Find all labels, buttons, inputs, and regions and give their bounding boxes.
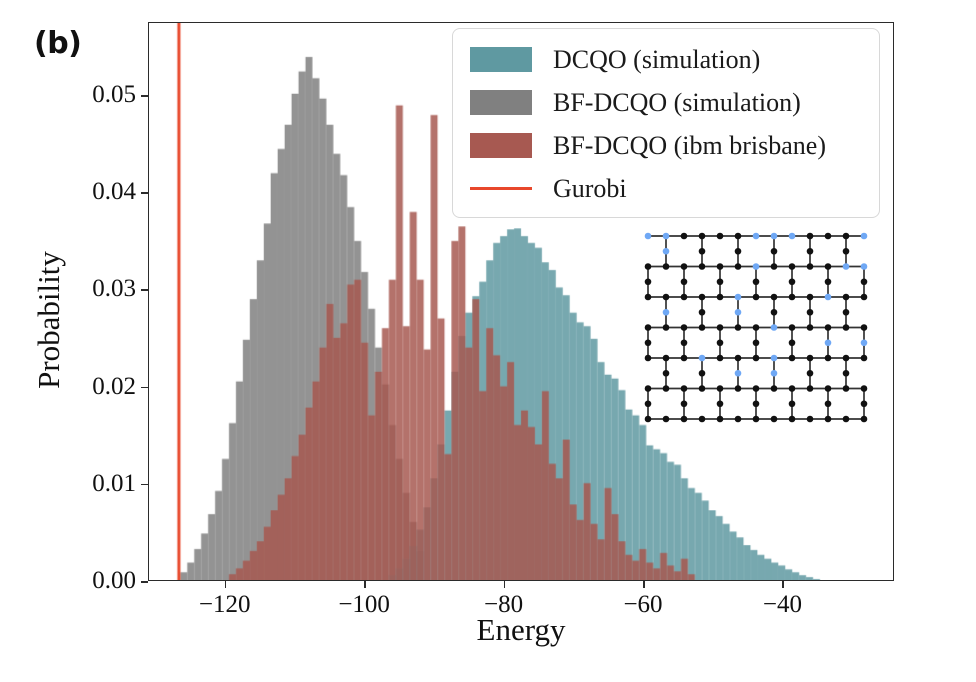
lattice-node — [663, 294, 670, 301]
legend-label-bfdcqo-simulation: BF-DCQO (simulation) — [553, 88, 801, 118]
x-tick-label: −60 — [583, 591, 703, 619]
lattice-node — [717, 324, 724, 331]
legend-item-bfdcqo-ibm-brisbane: BF-DCQO (ibm brisbane) — [453, 124, 879, 167]
lattice-node — [717, 339, 724, 346]
lattice-node-highlight — [771, 370, 778, 377]
y-tick-mark — [141, 581, 148, 583]
x-tick-mark — [643, 581, 645, 588]
lattice-node — [843, 233, 850, 240]
y-tick-mark — [141, 192, 148, 194]
lattice-node — [789, 294, 796, 301]
lattice-node — [645, 294, 652, 301]
lattice-node — [735, 263, 742, 270]
lattice-node — [699, 294, 706, 301]
lattice-node — [807, 355, 814, 362]
legend-swatch-bfdcqo-ibm-brisbane — [470, 133, 532, 158]
lattice-node — [663, 416, 670, 423]
lattice-node — [825, 385, 832, 392]
lattice-node — [807, 248, 814, 255]
lattice-node — [717, 263, 724, 270]
y-tick-mark — [141, 387, 148, 389]
lattice-node-highlight — [735, 370, 742, 377]
lattice-node — [771, 416, 778, 423]
legend-line-wrap-gurobi — [470, 176, 532, 201]
lattice-node — [843, 309, 850, 316]
legend-item-dcqo-simulation: DCQO (simulation) — [453, 38, 879, 81]
lattice-node — [753, 385, 760, 392]
lattice-node — [789, 339, 796, 346]
lattice-node — [843, 248, 850, 255]
lattice-node — [645, 400, 652, 407]
lattice-node — [789, 355, 796, 362]
x-tick-label: −40 — [722, 591, 842, 619]
lattice-node — [699, 416, 706, 423]
lattice-node-highlight — [861, 339, 868, 346]
lattice-node — [645, 263, 652, 270]
lattice-node-highlight — [735, 294, 742, 301]
lattice-node-highlight — [645, 233, 652, 240]
lattice-node — [717, 400, 724, 407]
lattice-node — [735, 248, 742, 255]
lattice-node-highlight — [771, 233, 778, 240]
lattice-node-highlight — [843, 263, 850, 270]
lattice-node-highlight — [663, 233, 670, 240]
lattice-node — [807, 309, 814, 316]
lattice-node — [681, 385, 688, 392]
lattice-node-highlight — [861, 263, 868, 270]
lattice-node — [735, 324, 742, 331]
lattice-node-highlight — [753, 263, 760, 270]
lattice-node — [843, 416, 850, 423]
lattice-node — [825, 263, 832, 270]
lattice-node — [735, 416, 742, 423]
lattice-node — [699, 370, 706, 377]
legend-label-gurobi: Gurobi — [553, 174, 627, 204]
x-tick-mark — [504, 581, 506, 588]
lattice-node — [843, 355, 850, 362]
lattice-node — [753, 400, 760, 407]
x-tick-label: −80 — [444, 591, 564, 619]
y-tick-label: 0.05 — [44, 81, 136, 109]
lattice-node — [645, 278, 652, 285]
x-tick-mark — [782, 581, 784, 588]
y-tick-mark — [141, 289, 148, 291]
x-tick-label: −120 — [165, 591, 285, 619]
lattice-node — [861, 294, 868, 301]
lattice-node — [717, 355, 724, 362]
lattice-node — [861, 324, 868, 331]
lattice-node — [645, 385, 652, 392]
lattice-node — [717, 416, 724, 423]
lattice-node — [645, 355, 652, 362]
lattice-node — [645, 339, 652, 346]
lattice-node — [789, 400, 796, 407]
lattice-node — [861, 400, 868, 407]
heavy-hex-qubit-lattice-inset — [640, 228, 872, 440]
lattice-node — [681, 263, 688, 270]
lattice-node — [699, 248, 706, 255]
lattice-node — [681, 339, 688, 346]
lattice-node — [807, 385, 814, 392]
lattice-node — [753, 339, 760, 346]
lattice-node-highlight — [825, 339, 832, 346]
lattice-node — [699, 263, 706, 270]
legend-label-dcqo-simulation: DCQO (simulation) — [553, 45, 760, 75]
lattice-node — [717, 294, 724, 301]
lattice-node — [753, 355, 760, 362]
lattice-node — [825, 324, 832, 331]
lattice-node — [663, 385, 670, 392]
legend-item-gurobi: Gurobi — [453, 167, 879, 210]
legend-line-gurobi — [470, 187, 532, 190]
lattice-node-highlight — [789, 233, 796, 240]
lattice-node — [807, 370, 814, 377]
y-tick-label: 0.00 — [44, 567, 136, 595]
lattice-node — [663, 324, 670, 331]
y-tick-label: 0.04 — [44, 178, 136, 206]
lattice-node — [699, 324, 706, 331]
y-tick-label: 0.02 — [44, 373, 136, 401]
lattice-node — [735, 233, 742, 240]
lattice-node — [771, 248, 778, 255]
lattice-node — [681, 324, 688, 331]
lattice-node — [789, 324, 796, 331]
lattice-node-highlight — [699, 355, 706, 362]
lattice-node — [825, 416, 832, 423]
legend-item-bfdcqo-simulation: BF-DCQO (simulation) — [453, 81, 879, 124]
lattice-node — [681, 294, 688, 301]
lattice-node-highlight — [663, 248, 670, 255]
lattice-node — [843, 324, 850, 331]
lattice-node — [735, 385, 742, 392]
lattice-node — [771, 263, 778, 270]
lattice-node-highlight — [663, 309, 670, 316]
lattice-node-highlight — [771, 355, 778, 362]
lattice-node — [681, 355, 688, 362]
lattice-node — [717, 385, 724, 392]
lattice-node — [681, 233, 688, 240]
lattice-node — [699, 309, 706, 316]
figure-panel-b: (b) Probability Energy 0.000.010.020.030… — [0, 0, 976, 682]
lattice-node — [861, 278, 868, 285]
y-tick-label: 0.01 — [44, 470, 136, 498]
lattice-node — [825, 278, 832, 285]
lattice-node — [843, 294, 850, 301]
lattice-node — [645, 324, 652, 331]
y-tick-label: 0.03 — [44, 275, 136, 303]
lattice-node — [681, 416, 688, 423]
lattice-node — [807, 233, 814, 240]
lattice-node — [753, 278, 760, 285]
lattice-node — [807, 294, 814, 301]
lattice-svg — [640, 228, 872, 440]
lattice-node — [681, 278, 688, 285]
lattice-node — [789, 385, 796, 392]
lattice-node — [771, 309, 778, 316]
lattice-node-highlight — [861, 233, 868, 240]
lattice-node — [807, 324, 814, 331]
y-tick-mark — [141, 95, 148, 97]
lattice-node — [735, 355, 742, 362]
lattice-node — [825, 400, 832, 407]
lattice-node — [681, 400, 688, 407]
lattice-node — [843, 385, 850, 392]
lattice-node-highlight — [771, 324, 778, 331]
lattice-node — [645, 416, 652, 423]
legend-swatch-dcqo-simulation — [470, 47, 532, 72]
lattice-node — [663, 263, 670, 270]
lattice-node — [717, 278, 724, 285]
lattice-node — [699, 233, 706, 240]
lattice-node-highlight — [825, 294, 832, 301]
lattice-node — [807, 263, 814, 270]
lattice-node — [807, 416, 814, 423]
lattice-node — [825, 355, 832, 362]
lattice-node — [825, 233, 832, 240]
lattice-node — [717, 233, 724, 240]
lattice-node-highlight — [735, 309, 742, 316]
lattice-node — [789, 278, 796, 285]
legend-swatch-bfdcqo-simulation — [470, 90, 532, 115]
lattice-node — [861, 355, 868, 362]
lattice-node — [663, 355, 670, 362]
y-tick-mark — [141, 484, 148, 486]
lattice-node — [753, 294, 760, 301]
lattice-node-highlight — [753, 233, 760, 240]
lattice-node — [753, 324, 760, 331]
lattice-node — [861, 416, 868, 423]
lattice-node — [861, 385, 868, 392]
panel-label: (b) — [34, 26, 81, 61]
lattice-node — [843, 370, 850, 377]
legend-box: DCQO (simulation) BF-DCQO (simulation) B… — [452, 28, 880, 218]
lattice-node — [789, 263, 796, 270]
lattice-node — [699, 385, 706, 392]
legend-label-bfdcqo-ibm-brisbane: BF-DCQO (ibm brisbane) — [553, 131, 826, 161]
lattice-node — [789, 416, 796, 423]
lattice-node — [771, 385, 778, 392]
x-tick-mark — [364, 581, 366, 588]
lattice-node — [753, 416, 760, 423]
x-tick-mark — [225, 581, 227, 588]
x-tick-label: −100 — [304, 591, 424, 619]
lattice-node — [771, 294, 778, 301]
lattice-node — [663, 370, 670, 377]
